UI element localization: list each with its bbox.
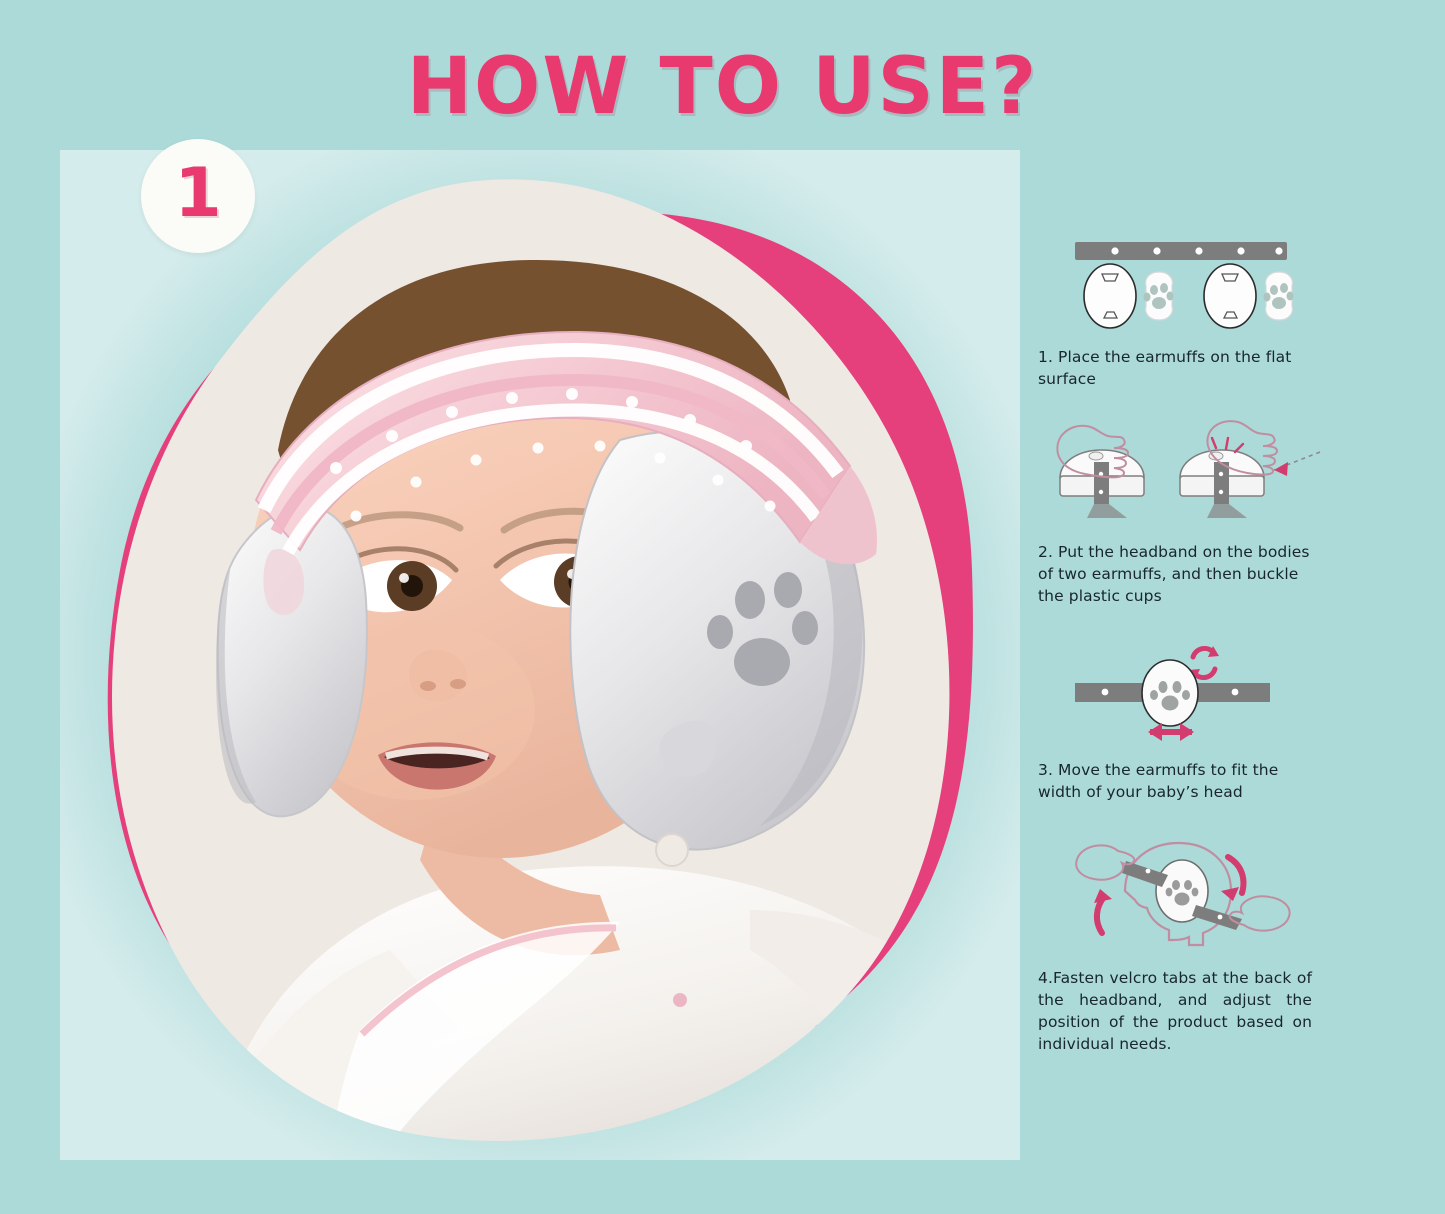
step-number-label: 1 bbox=[174, 160, 221, 228]
step-2-illustration bbox=[1030, 416, 1330, 531]
how-to-use-page: HOW TO USE? 1 bbox=[0, 0, 1445, 1214]
instruction-steps-column: 1. Place the earmuffs on the flat surfac… bbox=[1030, 230, 1330, 1063]
hero-image-area bbox=[60, 150, 1020, 1160]
curved-arrow-up-icon bbox=[1094, 889, 1112, 933]
step-4-illustration bbox=[1030, 833, 1330, 953]
step-2: 2. Put the headband on the bodies of two… bbox=[1030, 416, 1330, 607]
step-3: 3. Move the earmuffs to fit the width of… bbox=[1030, 637, 1330, 803]
hero-illustration bbox=[60, 150, 1020, 1160]
page-title: HOW TO USE? bbox=[0, 42, 1445, 132]
step-2-text: 2. Put the headband on the bodies of two… bbox=[1030, 541, 1320, 607]
curved-arrow-down-icon bbox=[1221, 857, 1243, 901]
step-1-text: 1. Place the earmuffs on the flat surfac… bbox=[1030, 346, 1320, 390]
step-4-text: 4.Fasten velcro tabs at the back of the … bbox=[1030, 967, 1320, 1055]
step-1: 1. Place the earmuffs on the flat surfac… bbox=[1030, 230, 1330, 390]
step-3-text: 3. Move the earmuffs to fit the width of… bbox=[1030, 759, 1320, 803]
step-number-badge: 1 bbox=[141, 139, 255, 253]
step-4: 4.Fasten velcro tabs at the back of the … bbox=[1030, 833, 1330, 1055]
step-3-illustration bbox=[1030, 637, 1330, 747]
step-1-illustration bbox=[1030, 230, 1330, 340]
